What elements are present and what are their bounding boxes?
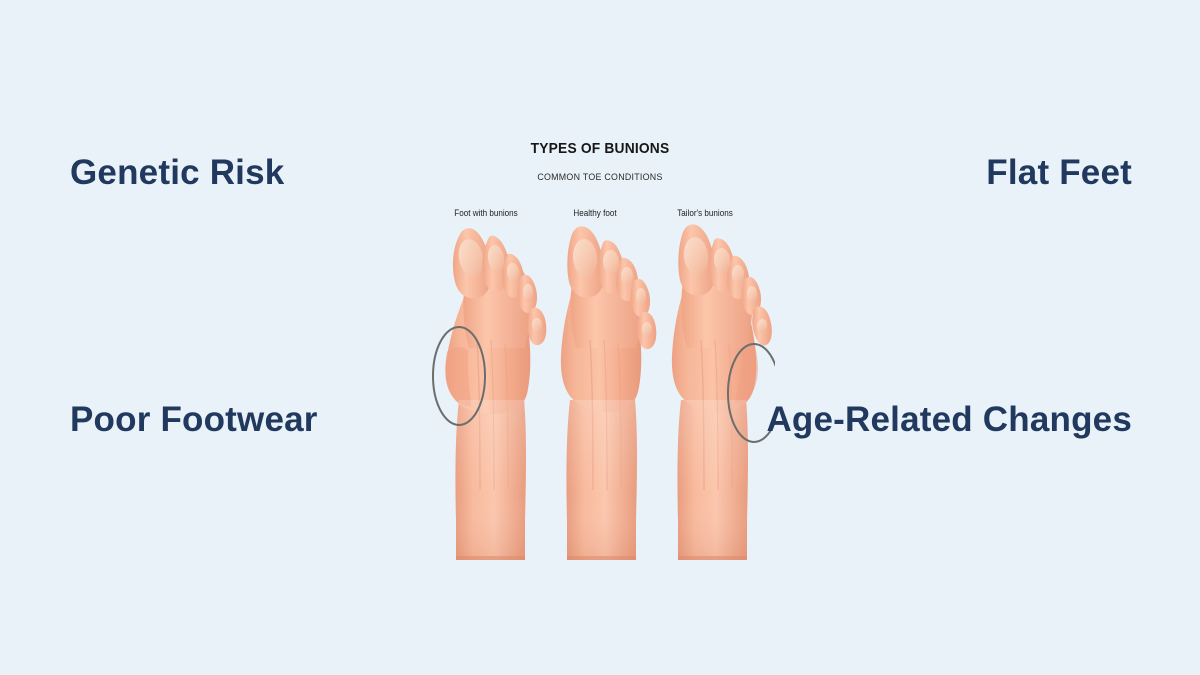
- illustration-subtitle: COMMON TOE CONDITIONS: [437, 172, 763, 183]
- slide-canvas: Genetic Risk Flat Feet Poor Footwear Age…: [0, 0, 1200, 675]
- foot-caption-tailors-bunions: Tailor's bunions: [647, 208, 764, 218]
- foot-caption-foot-with-bunions: Foot with bunions: [428, 208, 545, 218]
- healthy-foot-graphic: [561, 226, 656, 560]
- illustration-title: TYPES OF BUNIONS: [439, 140, 761, 157]
- bunion-types-illustration: TYPES OF BUNIONS COMMON TOE CONDITIONS F…: [425, 130, 775, 570]
- tailors-bunions-graphic: [672, 224, 775, 560]
- foot-caption-healthy-foot: Healthy foot: [537, 208, 654, 218]
- foot-with-bunions-graphic: [433, 228, 546, 560]
- factor-label-age-related: Age-Related Changes: [766, 402, 1132, 437]
- three-feet-diagram: [425, 220, 775, 570]
- factor-label-poor-footwear: Poor Footwear: [70, 402, 318, 437]
- factor-label-flat-feet: Flat Feet: [986, 155, 1132, 190]
- factor-label-genetic-risk: Genetic Risk: [70, 155, 284, 190]
